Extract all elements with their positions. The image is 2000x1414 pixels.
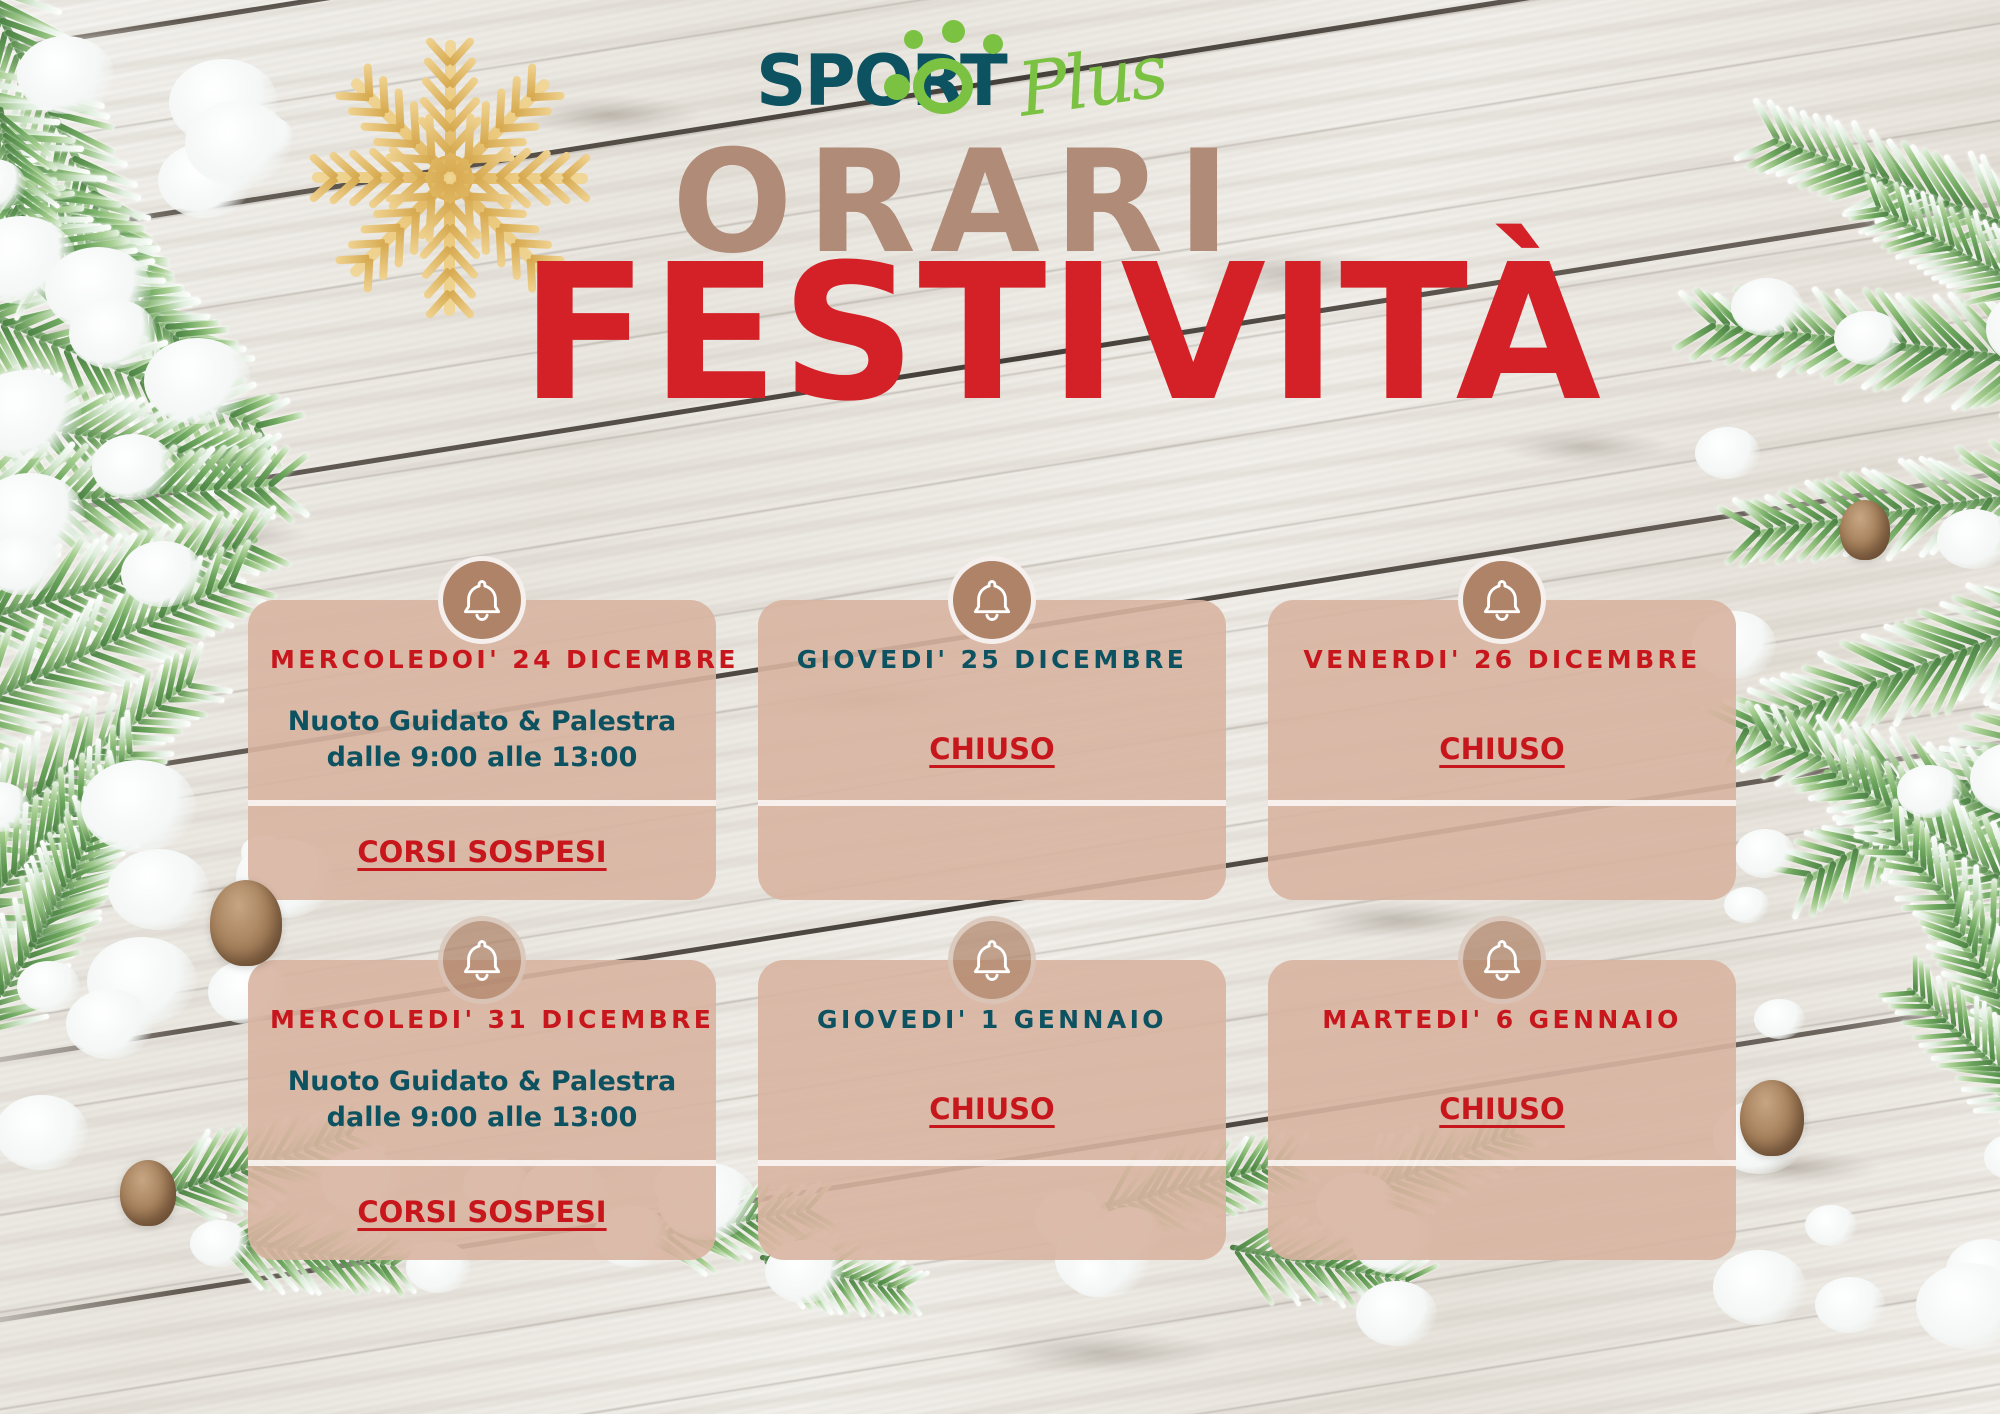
schedule-card: VENERDI' 26 DICEMBRECHIUSO	[1268, 600, 1736, 900]
schedule-card: MERCOLEDI' 31 DICEMBRENuoto Guidato & Pa…	[248, 960, 716, 1260]
snowflake-frond	[410, 212, 420, 256]
logo-plus-script: Plus	[1014, 34, 1170, 128]
card-date-heading: GIOVEDI' 25 DICEMBRE	[780, 646, 1204, 674]
schedule-card: GIOVEDI' 1 GENNAIOCHIUSO	[758, 960, 1226, 1260]
holiday-hours-poster: SPORT Plus ORARI FESTIVITÀ MERCOLEDOI' 2…	[0, 0, 2000, 1414]
snowflake-frond	[394, 88, 404, 129]
snowflake-frond	[373, 138, 417, 148]
snowflake-frond	[394, 227, 404, 268]
card-status-badge: CHIUSO	[1290, 732, 1714, 766]
schedule-grid: MERCOLEDOI' 24 DICEMBRENuoto Guidato & P…	[0, 600, 2000, 1320]
card-status-badge: CORSI SOSPESI	[248, 835, 716, 869]
snowflake-arm	[312, 170, 450, 186]
logo-dot-icon	[884, 74, 910, 100]
bell-icon	[438, 556, 526, 644]
schedule-card: MARTEDI' 6 GENNAIOCHIUSO	[1268, 960, 1736, 1260]
snowflake-frond	[364, 258, 374, 292]
card-status-badge: CHIUSO	[780, 1092, 1204, 1126]
snowflake-frond	[484, 138, 528, 148]
card-divider	[758, 800, 1226, 806]
snowflake-frond	[515, 107, 552, 117]
card-footer: CORSI SOSPESI	[248, 1195, 716, 1229]
snowflake-frond	[385, 153, 432, 163]
schedule-card-body: GIOVEDI' 1 GENNAIOCHIUSO	[758, 960, 1226, 1260]
card-footer: CORSI SOSPESI	[248, 835, 716, 869]
card-divider	[248, 800, 716, 806]
pinecone	[120, 1160, 176, 1226]
pinecone	[1740, 1080, 1804, 1156]
card-detail-line: dalle 9:00 alle 13:00	[270, 1100, 694, 1136]
card-date-heading: GIOVEDI' 1 GENNAIO	[780, 1006, 1204, 1034]
page-title-line2: FESTIVITÀ	[520, 240, 1603, 428]
snowflake-frond	[379, 76, 389, 113]
snowflake-frond	[499, 122, 540, 132]
snowflake-arm	[442, 40, 458, 178]
bell-icon	[438, 916, 526, 1004]
schedule-card-body: GIOVEDI' 25 DICEMBRECHIUSO	[758, 600, 1226, 900]
card-detail-line: Nuoto Guidato & Palestra	[270, 1064, 694, 1100]
snowflake-frond	[530, 92, 564, 102]
card-divider	[248, 1160, 716, 1166]
snowflake-frond	[379, 243, 389, 280]
snowflake-frond	[348, 107, 385, 117]
card-status-badge: CHIUSO	[780, 732, 1204, 766]
bell-icon	[1458, 916, 1546, 1004]
schedule-row: MERCOLEDOI' 24 DICEMBRENuoto Guidato & P…	[0, 600, 2000, 960]
card-status-badge: CORSI SOSPESI	[248, 1195, 716, 1229]
card-date-heading: MERCOLEDOI' 24 DICEMBRE	[270, 646, 694, 674]
card-status-badge: CHIUSO	[1290, 1092, 1714, 1126]
card-date-heading: MARTEDI' 6 GENNAIO	[1290, 1006, 1714, 1034]
card-detail-line: dalle 9:00 alle 13:00	[270, 740, 694, 776]
logo-dot-icon	[983, 34, 1003, 54]
card-divider	[758, 1160, 1226, 1166]
card-detail-line: Nuoto Guidato & Palestra	[270, 704, 694, 740]
snowflake-frond	[335, 92, 369, 102]
snowflake-arm	[450, 170, 588, 186]
bell-icon	[1458, 556, 1546, 644]
schedule-card-body: VENERDI' 26 DICEMBRECHIUSO	[1268, 600, 1736, 900]
schedule-card: GIOVEDI' 25 DICEMBRECHIUSO	[758, 600, 1226, 900]
card-divider	[1268, 1160, 1736, 1166]
schedule-card-body: MARTEDI' 6 GENNAIOCHIUSO	[1268, 960, 1736, 1260]
logo-dot-icon	[904, 30, 923, 49]
pinecone	[210, 880, 282, 966]
logo-ring-icon	[913, 58, 973, 114]
snowflake-frond	[360, 122, 401, 132]
schedule-card: MERCOLEDOI' 24 DICEMBRENuoto Guidato & P…	[248, 600, 716, 900]
card-divider	[1268, 800, 1736, 806]
snowflake-arm	[442, 178, 458, 316]
bell-icon	[948, 916, 1036, 1004]
card-date-heading: VENERDI' 26 DICEMBRE	[1290, 646, 1714, 674]
card-date-heading: MERCOLEDI' 31 DICEMBRE	[270, 1006, 694, 1034]
schedule-row: MERCOLEDI' 31 DICEMBRENuoto Guidato & Pa…	[0, 960, 2000, 1320]
bell-icon	[948, 556, 1036, 644]
pinecone	[1840, 500, 1890, 560]
logo-dot-icon	[942, 20, 965, 43]
